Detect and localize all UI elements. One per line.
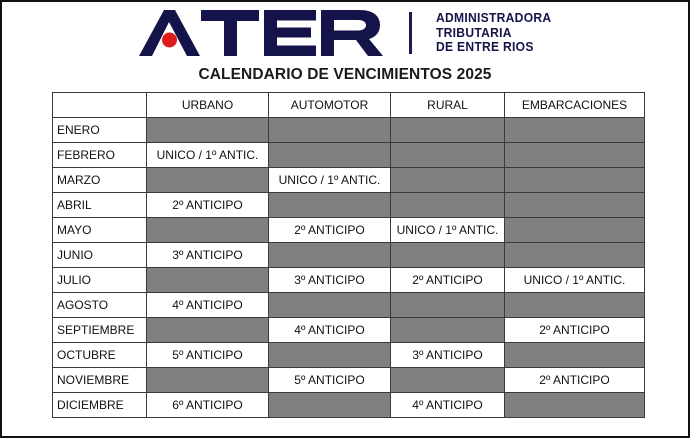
month-label: OCTUBRE	[53, 343, 147, 368]
due-date-cell: 4º ANTICIPO	[391, 393, 505, 418]
due-date-cell	[505, 243, 645, 268]
table-header-row: URBANO AUTOMOTOR RURAL EMBARCACIONES	[53, 93, 645, 118]
table-header: URBANO AUTOMOTOR RURAL EMBARCACIONES	[53, 93, 645, 118]
due-date-cell: 2º ANTICIPO	[391, 268, 505, 293]
due-date-cell	[505, 193, 645, 218]
ater-logo: ADMINISTRADORA TRIBUTARIA DE ENTRE RIOS	[135, 8, 560, 58]
due-date-cell	[505, 168, 645, 193]
column-header-urbano: URBANO	[147, 93, 269, 118]
page-title: CALENDARIO DE VENCIMIENTOS 2025	[2, 66, 688, 84]
due-date-cell	[505, 143, 645, 168]
month-label: SEPTIEMBRE	[53, 318, 147, 343]
due-date-cell	[269, 393, 391, 418]
due-date-cell	[269, 293, 391, 318]
calendar-table-area: URBANO AUTOMOTOR RURAL EMBARCACIONES ENE…	[2, 92, 688, 418]
due-date-cell	[391, 318, 505, 343]
due-date-cell	[147, 168, 269, 193]
due-date-cell	[147, 218, 269, 243]
due-date-cell	[269, 193, 391, 218]
table-row: AGOSTO4º ANTICIPO	[53, 293, 645, 318]
due-date-cell: 3º ANTICIPO	[391, 343, 505, 368]
table-corner-cell	[53, 93, 147, 118]
logo-divider	[409, 12, 412, 54]
due-date-cell: UNICO / 1º ANTIC.	[505, 268, 645, 293]
calendar-page: ADMINISTRADORA TRIBUTARIA DE ENTRE RIOS …	[0, 0, 690, 438]
column-header-embarcaciones: EMBARCACIONES	[505, 93, 645, 118]
table-row: SEPTIEMBRE4º ANTICIPO2º ANTICIPO	[53, 318, 645, 343]
table-row: NOVIEMBRE5º ANTICIPO2º ANTICIPO	[53, 368, 645, 393]
table-row: ENERO	[53, 118, 645, 143]
table-row: ABRIL2º ANTICIPO	[53, 193, 645, 218]
due-date-cell	[505, 118, 645, 143]
due-date-cell	[505, 218, 645, 243]
month-label: MAYO	[53, 218, 147, 243]
due-date-cell	[505, 343, 645, 368]
month-label: DICIEMBRE	[53, 393, 147, 418]
due-date-cell	[391, 143, 505, 168]
month-label: AGOSTO	[53, 293, 147, 318]
column-header-rural: RURAL	[391, 93, 505, 118]
table-row: FEBREROUNICO / 1º ANTIC.	[53, 143, 645, 168]
due-date-cell	[391, 293, 505, 318]
ater-subtitle-line-1: ADMINISTRADORA	[436, 11, 551, 26]
due-date-cell: 2º ANTICIPO	[505, 318, 645, 343]
due-date-cell: 2º ANTICIPO	[505, 368, 645, 393]
due-date-cell: UNICO / 1º ANTIC.	[391, 218, 505, 243]
month-label: JULIO	[53, 268, 147, 293]
table-row: JUNIO3º ANTICIPO	[53, 243, 645, 268]
ater-subtitle-line-2: TRIBUTARIA	[436, 26, 551, 41]
due-date-cell	[269, 343, 391, 368]
month-label: ABRIL	[53, 193, 147, 218]
due-date-cell: 5º ANTICIPO	[147, 343, 269, 368]
due-date-cell	[269, 243, 391, 268]
month-label: ENERO	[53, 118, 147, 143]
due-date-cell	[391, 118, 505, 143]
column-header-automotor: AUTOMOTOR	[269, 93, 391, 118]
due-date-cell	[147, 268, 269, 293]
due-date-cell	[391, 243, 505, 268]
due-date-cell	[147, 318, 269, 343]
table-row: OCTUBRE5º ANTICIPO3º ANTICIPO	[53, 343, 645, 368]
due-date-cell	[505, 393, 645, 418]
due-date-cell: 6º ANTICIPO	[147, 393, 269, 418]
table-row: MAYO2º ANTICIPOUNICO / 1º ANTIC.	[53, 218, 645, 243]
ater-wordmark-icon	[135, 8, 393, 58]
due-date-cell: 4º ANTICIPO	[147, 293, 269, 318]
due-date-cell	[391, 193, 505, 218]
due-date-cell: 2º ANTICIPO	[269, 218, 391, 243]
page-header: ADMINISTRADORA TRIBUTARIA DE ENTRE RIOS	[2, 2, 688, 64]
due-date-cell	[391, 368, 505, 393]
month-label: MARZO	[53, 168, 147, 193]
due-date-cell: 3º ANTICIPO	[147, 243, 269, 268]
table-row: DICIEMBRE6º ANTICIPO4º ANTICIPO	[53, 393, 645, 418]
due-date-cell	[269, 118, 391, 143]
due-date-cell: 5º ANTICIPO	[269, 368, 391, 393]
due-date-cell: 4º ANTICIPO	[269, 318, 391, 343]
due-date-cell: UNICO / 1º ANTIC.	[147, 143, 269, 168]
due-date-cell: 2º ANTICIPO	[147, 193, 269, 218]
month-label: NOVIEMBRE	[53, 368, 147, 393]
month-label: FEBRERO	[53, 143, 147, 168]
ater-subtitle-line-3: DE ENTRE RIOS	[436, 40, 551, 55]
table-row: MARZOUNICO / 1º ANTIC.	[53, 168, 645, 193]
due-date-cell	[147, 118, 269, 143]
due-date-cell: UNICO / 1º ANTIC.	[269, 168, 391, 193]
due-date-cell: 3º ANTICIPO	[269, 268, 391, 293]
due-dates-table: URBANO AUTOMOTOR RURAL EMBARCACIONES ENE…	[52, 92, 645, 418]
table-row: JULIO3º ANTICIPO2º ANTICIPOUNICO / 1º AN…	[53, 268, 645, 293]
due-date-cell	[391, 168, 505, 193]
ater-subtitle: ADMINISTRADORA TRIBUTARIA DE ENTRE RIOS	[436, 11, 560, 55]
due-date-cell	[147, 368, 269, 393]
due-date-cell	[505, 293, 645, 318]
table-body: ENEROFEBREROUNICO / 1º ANTIC.MARZOUNICO …	[53, 118, 645, 418]
month-label: JUNIO	[53, 243, 147, 268]
due-date-cell	[269, 143, 391, 168]
